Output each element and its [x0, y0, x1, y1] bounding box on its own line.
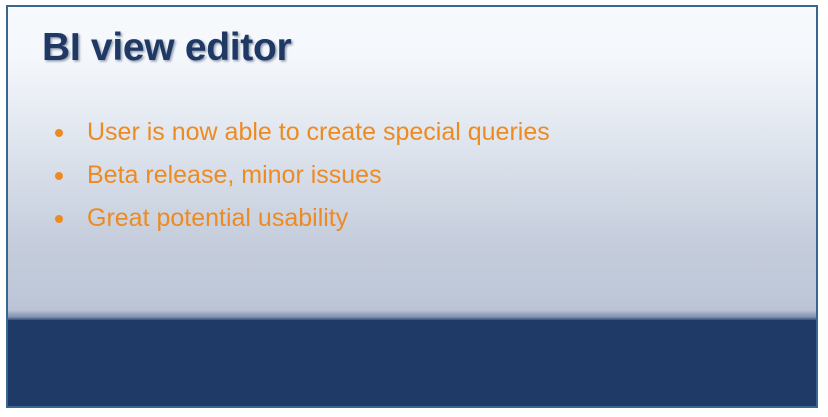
- bullet-point-icon: [55, 172, 63, 180]
- bullet-list-item: User is now able to create special queri…: [48, 111, 550, 154]
- slide-title: BI view editor: [42, 26, 291, 70]
- presentation-slide: BI view editor User is now able to creat…: [6, 5, 818, 408]
- bullet-point-icon: [55, 129, 63, 137]
- slide-bullet-list: User is now able to create special queri…: [48, 111, 550, 240]
- bullet-item-label: Great potential usability: [87, 197, 348, 240]
- bullet-item-label: User is now able to create special queri…: [87, 111, 550, 154]
- bullet-list-item: Great potential usability: [48, 197, 550, 240]
- bullet-list-item: Beta release, minor issues: [48, 154, 550, 197]
- bullet-item-label: Beta release, minor issues: [87, 154, 382, 197]
- bullet-point-icon: [55, 215, 63, 223]
- slide-footer-band: [8, 320, 816, 406]
